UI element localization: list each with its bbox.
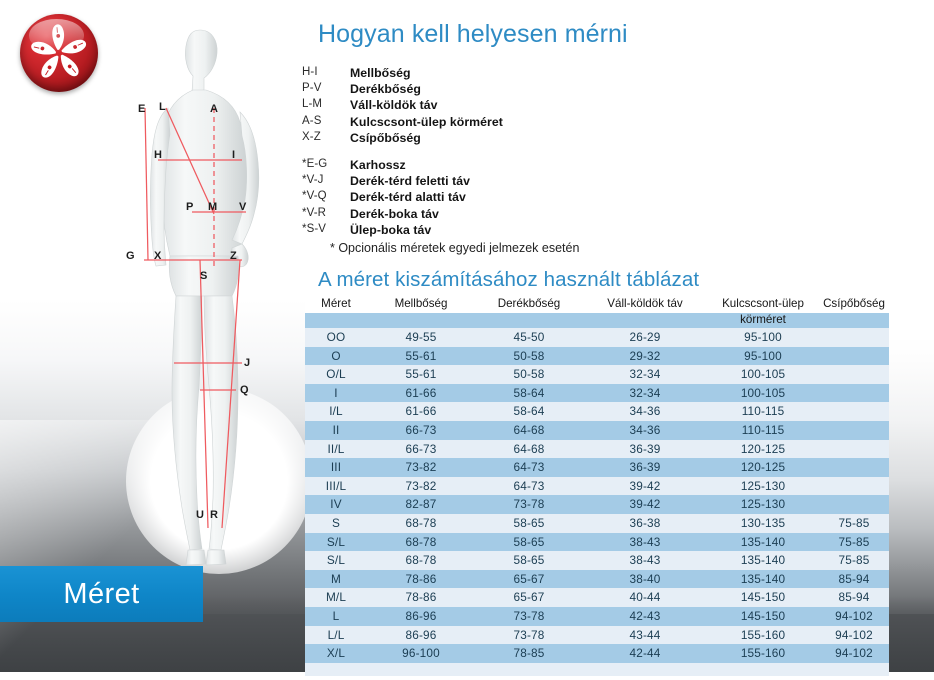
table-cell <box>367 663 475 676</box>
diagram-point-H: H <box>154 150 162 161</box>
table-cell: 75-85 <box>819 533 889 552</box>
meret-banner-label: Méret <box>63 578 139 611</box>
table-cell: 34-36 <box>583 402 707 421</box>
table-cell: 61-66 <box>367 384 475 403</box>
table-cell: 49-55 <box>367 328 475 347</box>
table-cell: 40-44 <box>583 588 707 607</box>
table-cell: 73-78 <box>475 626 583 645</box>
table-cell: 34-36 <box>583 421 707 440</box>
table-cell: 75-85 <box>819 514 889 533</box>
table-cell: 94-102 <box>819 626 889 645</box>
table-cell: 73-78 <box>475 607 583 626</box>
legend-label: Derékbőség <box>350 82 421 96</box>
table-cell: OO <box>305 328 367 347</box>
table-row: S/L68-7858-6538-43135-14075-85 <box>305 533 889 552</box>
table-cell: 38-43 <box>583 551 707 570</box>
legend-item: H-I Mellbőség <box>300 66 720 82</box>
legend-item: *S-V Ülep-boka táv <box>300 223 720 239</box>
table-cell: 58-65 <box>475 514 583 533</box>
table-cell <box>819 458 889 477</box>
legend-code: A-S <box>300 115 350 127</box>
table-row: I/L61-6658-6434-36110-115 <box>305 402 889 421</box>
table-head: Méret Mellbőség Derékbőség Váll-köldök t… <box>305 298 889 328</box>
table-row: II/L66-7364-6836-39120-125 <box>305 440 889 459</box>
table-cell: 100-105 <box>707 384 819 403</box>
table-cell: 50-58 <box>475 365 583 384</box>
legend-label: Váll-köldök táv <box>350 98 438 112</box>
table-cell: 61-66 <box>367 402 475 421</box>
diagram-point-A: A <box>210 104 218 115</box>
table-footer-spacer <box>305 663 889 676</box>
diagram-point-E: E <box>138 104 146 115</box>
column-header-csipoboseg: Csípőbőség <box>819 298 889 313</box>
legend-code: H-I <box>300 66 350 78</box>
legend-separator <box>300 147 720 158</box>
table-cell <box>819 365 889 384</box>
diagram-point-P: P <box>186 202 194 213</box>
table-cell: 145-150 <box>707 588 819 607</box>
table-header-row: Méret Mellbőség Derékbőség Váll-köldök t… <box>305 298 889 313</box>
table-cell: 58-64 <box>475 384 583 403</box>
table-cell: 39-42 <box>583 495 707 514</box>
subheader-spacer <box>367 313 475 329</box>
table-cell <box>819 440 889 459</box>
table-cell: 85-94 <box>819 588 889 607</box>
table-cell: III/L <box>305 477 367 496</box>
table-row: M/L78-8665-6740-44145-15085-94 <box>305 588 889 607</box>
diagram-point-G: G <box>126 251 135 262</box>
logo-gloss <box>29 19 84 52</box>
table-cell: 43-44 <box>583 626 707 645</box>
table-cell: 39-42 <box>583 477 707 496</box>
optional-note: * Opcionális méretek egyedi jelmezek ese… <box>330 241 579 255</box>
table-cell: 29-32 <box>583 347 707 366</box>
table-cell: 68-78 <box>367 533 475 552</box>
table-cell: 36-39 <box>583 458 707 477</box>
table-cell: 64-73 <box>475 458 583 477</box>
mannequin-figure <box>96 8 316 594</box>
legend-label: Mellbőség <box>350 66 411 80</box>
diagram-point-L: L <box>159 102 166 113</box>
table-cell: 135-140 <box>707 551 819 570</box>
table-cell: 73-82 <box>367 458 475 477</box>
table-cell <box>305 663 367 676</box>
table-row: S68-7858-6536-38130-13575-85 <box>305 514 889 533</box>
table-row: X/L96-10078-8542-44155-16094-102 <box>305 644 889 663</box>
column-header-derekboseg: Derékbőség <box>475 298 583 313</box>
table-cell: I <box>305 384 367 403</box>
table-cell: 86-96 <box>367 607 475 626</box>
table-cell: 94-102 <box>819 644 889 663</box>
subheader-kormeret: körméret <box>707 313 819 329</box>
table-row: L/L86-9673-7843-44155-16094-102 <box>305 626 889 645</box>
table-cell: 73-82 <box>367 477 475 496</box>
legend-code: *E-G <box>300 158 350 170</box>
table-cell: L/L <box>305 626 367 645</box>
table-cell <box>819 328 889 347</box>
size-table-container: Méret Mellbőség Derékbőség Váll-köldök t… <box>305 298 889 676</box>
table-cell <box>707 663 819 676</box>
legend-label: Derék-térd feletti táv <box>350 174 470 188</box>
table-cell <box>819 421 889 440</box>
table-cell: 32-34 <box>583 365 707 384</box>
table-cell: 64-68 <box>475 440 583 459</box>
table-cell: 86-96 <box>367 626 475 645</box>
diagram-point-J: J <box>244 358 250 369</box>
table-row: I61-6658-6432-34100-105 <box>305 384 889 403</box>
table-cell: 96-100 <box>367 644 475 663</box>
table-cell: 38-43 <box>583 533 707 552</box>
subheader-spacer <box>819 313 889 329</box>
table-cell: O/L <box>305 365 367 384</box>
diagram-point-R: R <box>210 510 218 521</box>
table-cell: I/L <box>305 402 367 421</box>
table-cell: 42-44 <box>583 644 707 663</box>
legend-code: *V-J <box>300 174 350 186</box>
legend-label: Ülep-boka táv <box>350 223 431 237</box>
legend-label: Csípőbőség <box>350 131 421 145</box>
column-header-meret: Méret <box>305 298 367 313</box>
table-row: III73-8264-7336-39120-125 <box>305 458 889 477</box>
table-cell: 36-39 <box>583 440 707 459</box>
table-cell: 155-160 <box>707 626 819 645</box>
subheader-spacer <box>583 313 707 329</box>
measurement-diagram: E L A H I P M V G X Z S J Q U R <box>96 8 316 594</box>
table-cell: 58-65 <box>475 551 583 570</box>
table-cell: S <box>305 514 367 533</box>
table-cell: S/L <box>305 533 367 552</box>
table-cell <box>583 663 707 676</box>
column-header-vall-koldok: Váll-köldök táv <box>583 298 707 313</box>
table-cell: 120-125 <box>707 440 819 459</box>
table-cell: 42-43 <box>583 607 707 626</box>
table-row: L86-9673-7842-43145-15094-102 <box>305 607 889 626</box>
legend-code: X-Z <box>300 131 350 143</box>
table-cell: 95-100 <box>707 347 819 366</box>
diagram-point-V: V <box>239 202 247 213</box>
hong-kong-bauhinia-logo <box>20 14 98 92</box>
table-cell: 75-85 <box>819 551 889 570</box>
legend-label: Kulcscsont-ülep körméret <box>350 115 503 129</box>
table-cell: 65-67 <box>475 588 583 607</box>
diagram-point-Q: Q <box>240 385 249 396</box>
table-cell: M/L <box>305 588 367 607</box>
table-cell: 110-115 <box>707 421 819 440</box>
diagram-point-Z: Z <box>230 251 237 262</box>
table-cell: O <box>305 347 367 366</box>
table-cell: 55-61 <box>367 347 475 366</box>
legend-item: *E-G Karhossz <box>300 158 720 174</box>
table-cell <box>819 663 889 676</box>
table-cell: 68-78 <box>367 551 475 570</box>
table-cell <box>475 663 583 676</box>
table-cell: 135-140 <box>707 533 819 552</box>
legend-code: *S-V <box>300 223 350 235</box>
table-subheader-row: körméret <box>305 313 889 329</box>
table-cell: 32-34 <box>583 384 707 403</box>
legend-code: L-M <box>300 98 350 110</box>
table-cell: 66-73 <box>367 421 475 440</box>
table-cell: 78-86 <box>367 588 475 607</box>
table-cell: L <box>305 607 367 626</box>
table-cell <box>819 384 889 403</box>
legend-item: P-V Derékbőség <box>300 82 720 98</box>
table-cell: 26-29 <box>583 328 707 347</box>
table-cell: 66-73 <box>367 440 475 459</box>
table-cell: 94-102 <box>819 607 889 626</box>
legend-label: Karhossz <box>350 158 406 172</box>
diagram-point-S: S <box>200 271 208 282</box>
table-cell: 45-50 <box>475 328 583 347</box>
table-row: II66-7364-6834-36110-115 <box>305 421 889 440</box>
diagram-point-U: U <box>196 510 204 521</box>
table-row: OO49-5545-5026-2995-100 <box>305 328 889 347</box>
table-cell: 120-125 <box>707 458 819 477</box>
legend-label: Derék-boka táv <box>350 207 439 221</box>
table-cell: 73-78 <box>475 495 583 514</box>
table-cell: M <box>305 570 367 589</box>
legend-code: *V-Q <box>300 190 350 202</box>
table-cell: 68-78 <box>367 514 475 533</box>
table-cell <box>819 495 889 514</box>
legend-item: *V-J Derék-térd feletti táv <box>300 174 720 190</box>
content-column: Hogyan kell helyesen mérni H-I Mellbőség… <box>300 0 934 672</box>
table-cell: X/L <box>305 644 367 663</box>
column-header-kulcscsont: Kulcscsont-ülep <box>707 298 819 313</box>
table-cell: 64-73 <box>475 477 583 496</box>
table-cell: 130-135 <box>707 514 819 533</box>
column-header-mellboseg: Mellbőség <box>367 298 475 313</box>
table-cell: 38-40 <box>583 570 707 589</box>
table-cell: 135-140 <box>707 570 819 589</box>
table-cell: 65-67 <box>475 570 583 589</box>
table-cell: 155-160 <box>707 644 819 663</box>
table-cell: 58-64 <box>475 402 583 421</box>
table-cell: 58-65 <box>475 533 583 552</box>
legend-item: *V-Q Derék-térd alatti táv <box>300 190 720 206</box>
table-cell: 78-86 <box>367 570 475 589</box>
table-cell: 145-150 <box>707 607 819 626</box>
table-body: OO49-5545-5026-2995-100O55-6150-5829-329… <box>305 328 889 676</box>
table-cell: 36-38 <box>583 514 707 533</box>
table-row: S/L68-7858-6538-43135-14075-85 <box>305 551 889 570</box>
table-cell: 50-58 <box>475 347 583 366</box>
subheader-spacer <box>305 313 367 329</box>
legend-item: X-Z Csípőbőség <box>300 131 720 147</box>
diagram-point-I: I <box>232 150 235 161</box>
table-cell: 95-100 <box>707 328 819 347</box>
legend-code: P-V <box>300 82 350 94</box>
diagram-point-X: X <box>154 251 162 262</box>
legend-code: *V-R <box>300 207 350 219</box>
table-row: IV82-8773-7839-42125-130 <box>305 495 889 514</box>
table-cell <box>819 477 889 496</box>
table-cell: 55-61 <box>367 365 475 384</box>
legend-item: L-M Váll-köldök táv <box>300 98 720 114</box>
table-cell: IV <box>305 495 367 514</box>
size-table: Méret Mellbőség Derékbőség Váll-köldök t… <box>305 298 889 676</box>
table-row: O/L55-6150-5832-34100-105 <box>305 365 889 384</box>
table-cell <box>819 402 889 421</box>
table-cell: II <box>305 421 367 440</box>
table-cell: 100-105 <box>707 365 819 384</box>
table-cell: II/L <box>305 440 367 459</box>
subheader-spacer <box>475 313 583 329</box>
table-cell: III <box>305 458 367 477</box>
table-cell: 64-68 <box>475 421 583 440</box>
diagram-point-M: M <box>208 202 217 213</box>
table-row: O55-6150-5829-3295-100 <box>305 347 889 366</box>
table-cell <box>819 347 889 366</box>
page-title: Hogyan kell helyesen mérni <box>318 20 628 49</box>
table-row: III/L73-8264-7339-42125-130 <box>305 477 889 496</box>
table-cell: 125-130 <box>707 477 819 496</box>
table-cell: 110-115 <box>707 402 819 421</box>
table-cell: S/L <box>305 551 367 570</box>
table-cell: 78-85 <box>475 644 583 663</box>
legend-label: Derék-térd alatti táv <box>350 190 466 204</box>
meret-banner: Méret <box>0 566 203 622</box>
legend-item: *V-R Derék-boka táv <box>300 207 720 223</box>
measurement-legend: H-I Mellbőség P-V Derékbőség L-M Váll-kö… <box>300 66 720 239</box>
table-cell: 85-94 <box>819 570 889 589</box>
table-cell: 82-87 <box>367 495 475 514</box>
table-row: M78-8665-6738-40135-14085-94 <box>305 570 889 589</box>
table-title: A méret kiszámításához használt táblázat <box>318 268 699 292</box>
legend-item: A-S Kulcscsont-ülep körméret <box>300 115 720 131</box>
table-cell: 125-130 <box>707 495 819 514</box>
